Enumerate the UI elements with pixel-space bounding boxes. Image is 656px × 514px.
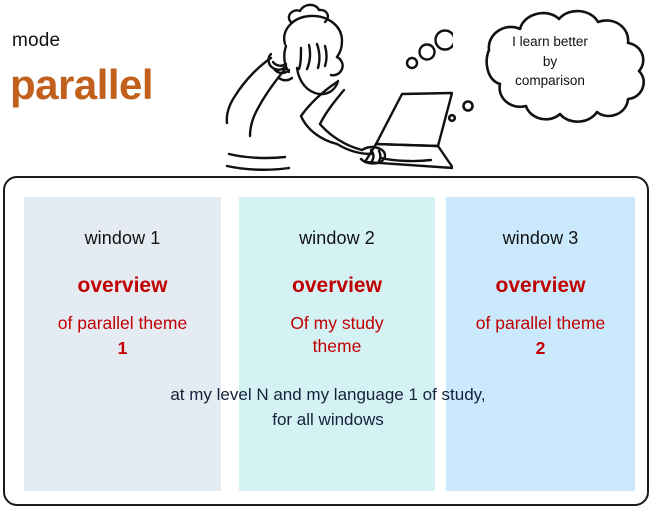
thought-bubble-text: I learn better by comparison: [470, 32, 630, 91]
window-panel-3-desc-line-1: of parallel theme: [450, 312, 631, 335]
window-panel-3[interactable]: window 3 overview of parallel theme 2: [446, 197, 635, 491]
thought-bubble-line-3: comparison: [470, 71, 630, 91]
window-panels: window 1 overview of parallel theme 1 wi…: [5, 178, 651, 508]
window-panel-1-desc-line-2: 1: [28, 337, 217, 360]
window-panel-2-description: Of my study theme: [239, 312, 435, 358]
window-panel-2[interactable]: window 2 overview Of my study theme: [239, 197, 435, 491]
window-panel-1-title: window 1: [24, 228, 221, 249]
window-panel-2-desc-line-1: Of my study: [243, 312, 431, 335]
window-panel-3-title: window 3: [446, 228, 635, 249]
window-panel-2-title: window 2: [239, 228, 435, 249]
window-panel-2-overview: overview: [239, 274, 435, 298]
window-panel-1-overview: overview: [24, 274, 221, 298]
mode-label: mode: [12, 30, 60, 52]
window-panel-3-description: of parallel theme 2: [446, 312, 635, 360]
thought-bubble-line-2: by: [470, 52, 630, 72]
window-panel-3-desc-line-2: 2: [450, 337, 631, 360]
window-panel-1-desc-line-1: of parallel theme: [28, 312, 217, 335]
windows-container: window 1 overview of parallel theme 1 wi…: [3, 176, 649, 506]
mode-value: parallel: [10, 64, 153, 106]
window-panel-2-desc-line-2: theme: [243, 335, 431, 358]
header-area: mode parallel: [0, 0, 656, 175]
window-panel-1[interactable]: window 1 overview of parallel theme 1: [24, 197, 221, 491]
thought-bubble-line-1: I learn better: [470, 32, 630, 52]
window-panel-1-description: of parallel theme 1: [24, 312, 221, 360]
window-panel-3-overview: overview: [446, 274, 635, 298]
person-studying-at-laptop-icon: [213, 0, 453, 174]
